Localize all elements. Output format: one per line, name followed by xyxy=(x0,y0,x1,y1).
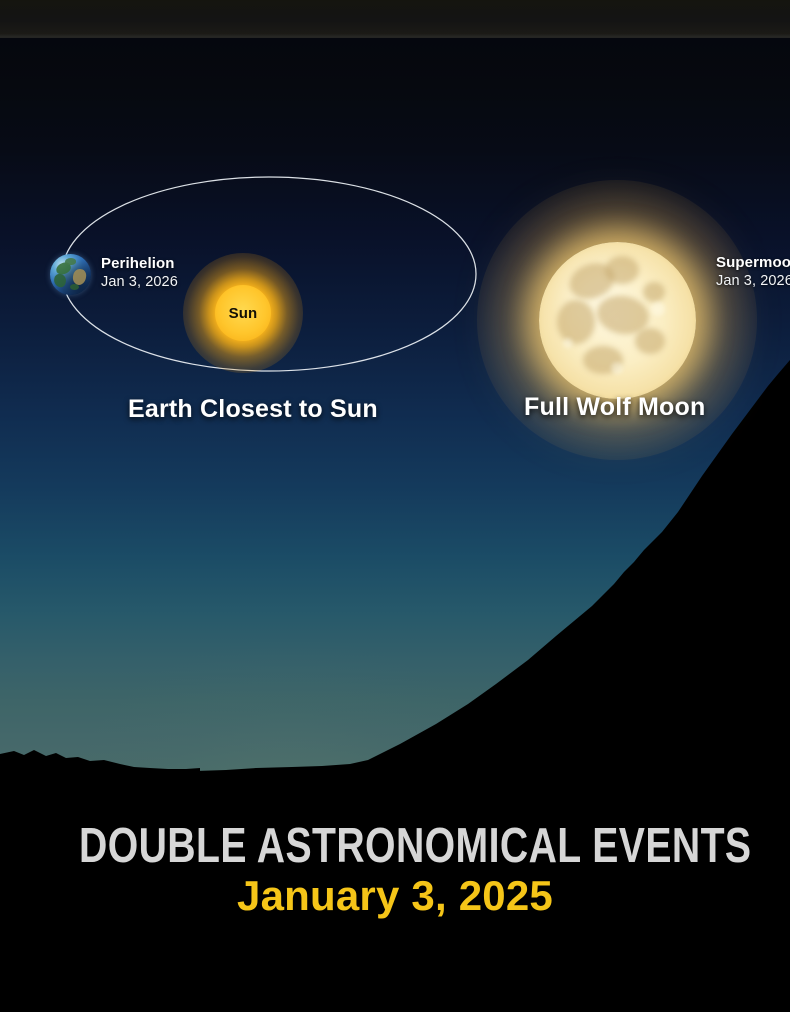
perihelion-label: Perihelion xyxy=(101,255,178,273)
sun-label: Sun xyxy=(229,306,258,321)
headline-title: DOUBLE ASTRONOMICAL EVENTS xyxy=(79,818,711,874)
earth-landmass xyxy=(65,258,76,265)
sun-body: Sun xyxy=(215,285,271,341)
poster-canvas: Sun Perihelion Jan 3, 2026 Supermoon Jan… xyxy=(0,0,790,1012)
earth-landmass xyxy=(53,273,67,288)
supermoon-annotation: Supermoon Jan 3, 2026 xyxy=(716,254,790,290)
supermoon-label: Supermoon xyxy=(716,254,790,272)
earth-globe-icon xyxy=(50,254,91,295)
caption-earth-closest-to-sun: Earth Closest to Sun xyxy=(128,395,378,424)
perihelion-annotation: Perihelion Jan 3, 2026 xyxy=(101,255,178,291)
caption-full-wolf-moon: Full Wolf Moon xyxy=(524,393,705,422)
lunar-limb-shading xyxy=(539,242,696,399)
top-letterbox-bar xyxy=(0,0,790,38)
perihelion-date: Jan 3, 2026 xyxy=(101,274,178,291)
earth-landmass xyxy=(70,284,79,290)
supermoon-date: Jan 3, 2026 xyxy=(716,273,790,290)
headline-date: January 3, 2025 xyxy=(0,872,790,920)
full-moon-body xyxy=(539,242,696,399)
